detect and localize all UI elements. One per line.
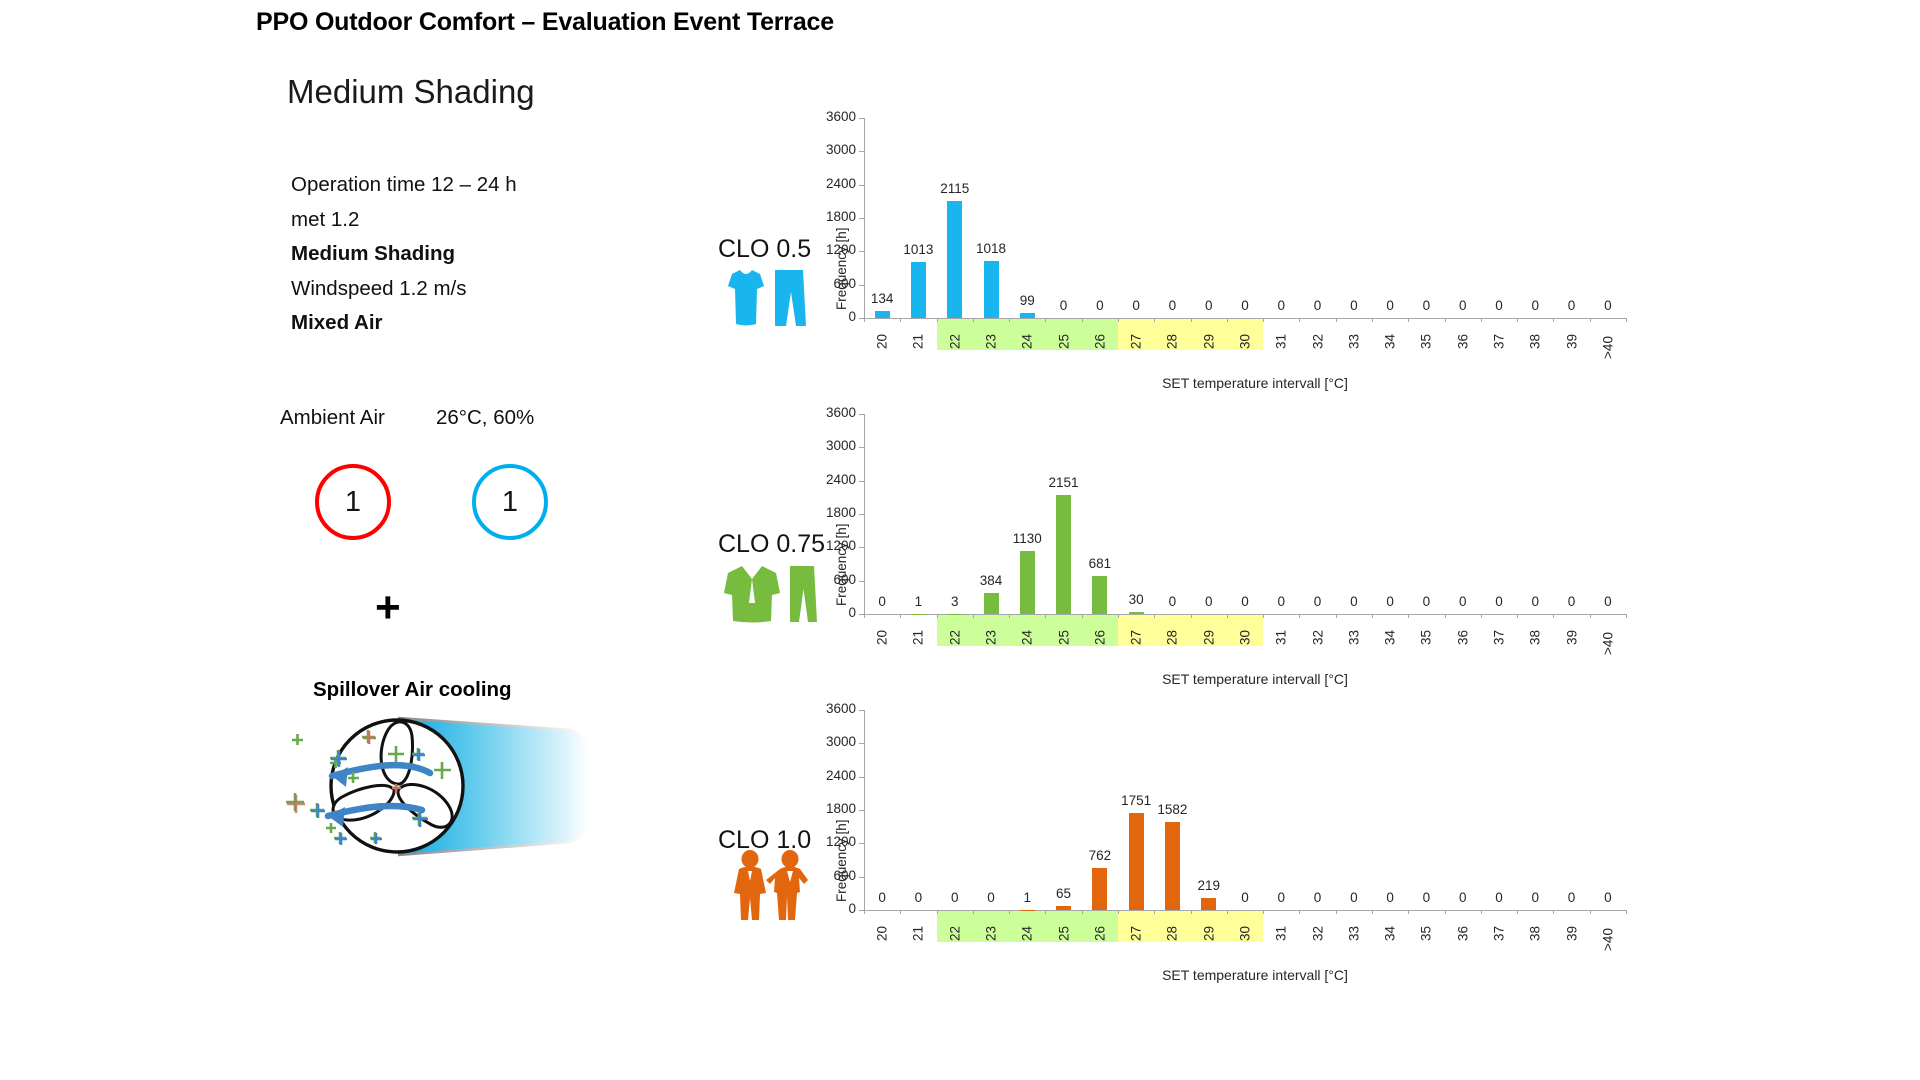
plus-icon: + xyxy=(375,586,401,630)
x-tick-label-27: 27 xyxy=(1129,918,1144,950)
y-tick-label: 2400 xyxy=(812,176,856,191)
bar-value-label: 65 xyxy=(1039,886,1089,901)
x-tick-mark xyxy=(1263,910,1264,914)
y-tick-label: 3600 xyxy=(812,109,856,124)
x-tick-mark xyxy=(1553,614,1554,618)
x-tick-label-31: 31 xyxy=(1274,622,1289,654)
x-tick-label-33: 33 xyxy=(1346,918,1361,950)
bar-28 xyxy=(1165,822,1180,910)
y-tick-label: 600 xyxy=(812,572,856,587)
bar-21 xyxy=(911,262,926,318)
bar-27 xyxy=(1129,813,1144,910)
x-tick-label-33: 33 xyxy=(1346,622,1361,654)
x-tick-label-21: 21 xyxy=(911,918,926,950)
slide-canvas: PPO Outdoor Comfort – Evaluation Event T… xyxy=(0,0,1920,1080)
x-tick-mark xyxy=(864,614,865,618)
x-tick-mark xyxy=(1118,318,1119,322)
x-tick-mark xyxy=(1626,910,1627,914)
x-tick-mark xyxy=(1191,614,1192,618)
x-tick-mark xyxy=(1299,318,1300,322)
x-tick-mark xyxy=(1481,318,1482,322)
x-tick-mark xyxy=(1481,910,1482,914)
y-tick-label: 1200 xyxy=(812,538,856,553)
y-tick-label: 2400 xyxy=(812,768,856,783)
y-tick-label: 0 xyxy=(812,605,856,620)
bar-value-label: 384 xyxy=(966,573,1016,588)
x-tick-label-32: 32 xyxy=(1310,918,1325,950)
x-tick-mark xyxy=(937,318,938,322)
x-tick-label-24: 24 xyxy=(1020,918,1035,950)
y-tick-label: 3000 xyxy=(812,734,856,749)
y-tick-label: 3000 xyxy=(812,438,856,453)
x-tick-label-25: 25 xyxy=(1056,326,1071,358)
ambient-air-label: Ambient Air xyxy=(280,406,385,430)
x-tick-mark xyxy=(1082,910,1083,914)
x-tick-mark xyxy=(900,318,901,322)
bar-value-label: 1018 xyxy=(966,241,1016,256)
y-tick-label: 600 xyxy=(812,868,856,883)
x-tick-label-29: 29 xyxy=(1201,918,1216,950)
x-tick-mark xyxy=(1009,910,1010,914)
bar-29 xyxy=(1201,898,1216,910)
x-axis-title-clo-050: SET temperature intervall [°C] xyxy=(1145,375,1365,391)
x-tick-mark xyxy=(1009,318,1010,322)
x-tick-mark xyxy=(1263,614,1264,618)
x-tick-mark xyxy=(973,910,974,914)
x-tick-label-35: 35 xyxy=(1419,326,1434,358)
x-tick-label-34: 34 xyxy=(1383,918,1398,950)
clo-label-clo-075: CLO 0.75 xyxy=(718,530,825,559)
x-tick-label-28: 28 xyxy=(1165,622,1180,654)
parameter-line: Windspeed 1.2 m/s xyxy=(291,272,517,307)
bar-value-label: 2151 xyxy=(1039,475,1089,490)
bar-value-label: 134 xyxy=(857,291,907,306)
x-tick-label-22: 22 xyxy=(947,326,962,358)
x-tick-label-24: 24 xyxy=(1020,622,1035,654)
x-tick-label->40: >40 xyxy=(1600,924,1615,956)
x-tick-label-25: 25 xyxy=(1056,918,1071,950)
x-tick-mark xyxy=(1445,910,1446,914)
x-tick-label-20: 20 xyxy=(875,326,890,358)
x-tick-label-28: 28 xyxy=(1165,918,1180,950)
x-tick-label-30: 30 xyxy=(1238,918,1253,950)
x-tick-label-39: 39 xyxy=(1564,326,1579,358)
x-tick-mark xyxy=(900,910,901,914)
clo-label-clo-050: CLO 0.5 xyxy=(718,235,811,264)
bar-22 xyxy=(947,614,962,615)
x-tick-label-37: 37 xyxy=(1492,918,1507,950)
x-tick-mark xyxy=(1154,318,1155,322)
y-tick-label: 1200 xyxy=(812,834,856,849)
x-tick-mark xyxy=(1517,614,1518,618)
ambient-air-badge: 1 xyxy=(315,464,391,540)
x-tick-mark xyxy=(1408,910,1409,914)
x-tick-mark xyxy=(1372,318,1373,322)
x-axis-title-clo-075: SET temperature intervall [°C] xyxy=(1145,671,1365,687)
x-tick-mark xyxy=(1590,910,1591,914)
y-tick-label: 1200 xyxy=(812,242,856,257)
y-axis-title-clo-050: Frequency [h] xyxy=(834,227,849,310)
y-tick-label: 600 xyxy=(812,276,856,291)
x-tick-label-38: 38 xyxy=(1528,918,1543,950)
x-tick-mark xyxy=(1517,910,1518,914)
x-tick-label-36: 36 xyxy=(1455,326,1470,358)
x-tick-label-26: 26 xyxy=(1092,326,1107,358)
x-tick-mark xyxy=(1082,318,1083,322)
parameter-line: met 1.2 xyxy=(291,203,517,238)
bar-24 xyxy=(1020,551,1035,614)
x-tick-mark xyxy=(1191,910,1192,914)
bar-26 xyxy=(1092,868,1107,910)
x-tick-mark xyxy=(1590,318,1591,322)
y-tick-label: 3000 xyxy=(812,142,856,157)
x-tick-label-26: 26 xyxy=(1092,918,1107,950)
bar-23 xyxy=(984,593,999,614)
x-tick-mark xyxy=(864,318,865,322)
x-tick-label-38: 38 xyxy=(1528,326,1543,358)
y-axis-title-clo-100: Frequency [h] xyxy=(834,819,849,902)
x-tick-label-32: 32 xyxy=(1310,622,1325,654)
x-tick-label-29: 29 xyxy=(1201,326,1216,358)
bar-24 xyxy=(1020,910,1035,911)
x-tick-mark xyxy=(864,910,865,914)
x-tick-mark xyxy=(1263,318,1264,322)
x-tick-label-35: 35 xyxy=(1419,918,1434,950)
bar-27 xyxy=(1129,612,1144,614)
x-tick-mark xyxy=(1336,910,1337,914)
x-tick-label-20: 20 xyxy=(875,622,890,654)
x-tick-mark xyxy=(1154,910,1155,914)
x-tick-label-23: 23 xyxy=(984,622,999,654)
bar-value-label: 1582 xyxy=(1147,802,1197,817)
x-tick-mark xyxy=(1372,614,1373,618)
x-tick-mark xyxy=(1009,614,1010,618)
x-tick-label-25: 25 xyxy=(1056,622,1071,654)
x-tick-label-30: 30 xyxy=(1238,326,1253,358)
parameter-line: Medium Shading xyxy=(291,237,517,272)
parameter-line: Mixed Air xyxy=(291,306,517,341)
x-tick-label-21: 21 xyxy=(911,326,926,358)
x-tick-label-20: 20 xyxy=(875,918,890,950)
spillover-fan-diagram-icon xyxy=(270,710,610,865)
x-tick-mark xyxy=(1045,614,1046,618)
x-tick-label-23: 23 xyxy=(984,326,999,358)
bar-24 xyxy=(1020,313,1035,319)
x-tick-label-36: 36 xyxy=(1455,918,1470,950)
x-tick-label-31: 31 xyxy=(1274,918,1289,950)
x-tick-label-34: 34 xyxy=(1383,622,1398,654)
x-tick-mark xyxy=(1045,318,1046,322)
y-tick-label: 3600 xyxy=(812,701,856,716)
y-tick-label: 0 xyxy=(812,901,856,916)
x-tick-mark xyxy=(1227,318,1228,322)
x-tick-mark xyxy=(1517,318,1518,322)
x-tick-label-31: 31 xyxy=(1274,326,1289,358)
x-tick-mark xyxy=(900,614,901,618)
ambient-condition-label: 26°C, 60% xyxy=(436,406,534,430)
parameter-list: Operation time 12 – 24 hmet 1.2Medium Sh… xyxy=(291,168,517,341)
y-tick-label: 1800 xyxy=(812,505,856,520)
bar-23 xyxy=(984,261,999,318)
x-tick-mark xyxy=(937,614,938,618)
x-tick-label-32: 32 xyxy=(1310,326,1325,358)
bar-value-label: 3 xyxy=(930,594,980,609)
x-tick-label-39: 39 xyxy=(1564,622,1579,654)
bar-value-label: 0 xyxy=(1583,594,1633,609)
x-tick-label-33: 33 xyxy=(1346,326,1361,358)
x-tick-label-22: 22 xyxy=(947,918,962,950)
bar-value-label: 681 xyxy=(1075,556,1125,571)
business-couple-icon xyxy=(722,850,822,927)
bar-value-label: 1013 xyxy=(893,242,943,257)
section-heading: Medium Shading xyxy=(287,73,535,111)
x-tick-mark xyxy=(1154,614,1155,618)
x-tick-mark xyxy=(1372,910,1373,914)
y-tick-label: 1800 xyxy=(812,209,856,224)
x-tick-mark xyxy=(1045,910,1046,914)
jacket-trousers-icon xyxy=(718,563,818,630)
x-tick-label-21: 21 xyxy=(911,622,926,654)
x-tick-mark xyxy=(973,614,974,618)
x-tick-label->40: >40 xyxy=(1600,628,1615,660)
x-tick-label-23: 23 xyxy=(984,918,999,950)
bar-22 xyxy=(947,201,962,319)
bar-value-label: 1130 xyxy=(1002,531,1052,546)
x-tick-mark xyxy=(937,910,938,914)
x-tick-label-35: 35 xyxy=(1419,622,1434,654)
x-tick-mark xyxy=(1118,614,1119,618)
bar-26 xyxy=(1092,576,1107,614)
x-tick-label-34: 34 xyxy=(1383,326,1398,358)
bar-25 xyxy=(1056,495,1071,615)
x-tick-label-39: 39 xyxy=(1564,918,1579,950)
value-axis xyxy=(864,118,865,318)
y-axis-title-clo-075: Frequency [h] xyxy=(834,523,849,606)
spillover-air-cooling-label: Spillover Air cooling xyxy=(313,678,512,702)
x-tick-mark xyxy=(1408,614,1409,618)
bar-25 xyxy=(1056,906,1071,910)
x-tick-mark xyxy=(1481,614,1482,618)
bar-value-label: 0 xyxy=(1583,298,1633,313)
y-tick-label: 1800 xyxy=(812,801,856,816)
x-tick-label-22: 22 xyxy=(947,622,962,654)
x-tick-mark xyxy=(1590,614,1591,618)
x-tick-mark xyxy=(1191,318,1192,322)
bar-value-label: 2115 xyxy=(930,181,980,196)
x-tick-mark xyxy=(1336,318,1337,322)
x-tick-label->40: >40 xyxy=(1600,332,1615,364)
x-tick-mark xyxy=(1626,614,1627,618)
x-tick-mark xyxy=(1082,614,1083,618)
value-axis xyxy=(864,414,865,614)
x-tick-label-27: 27 xyxy=(1129,622,1144,654)
x-tick-label-38: 38 xyxy=(1528,622,1543,654)
x-tick-label-29: 29 xyxy=(1201,622,1216,654)
page-title: PPO Outdoor Comfort – Evaluation Event T… xyxy=(256,8,834,37)
y-tick-label: 3600 xyxy=(812,405,856,420)
x-tick-label-36: 36 xyxy=(1455,622,1470,654)
value-axis xyxy=(864,710,865,910)
x-tick-mark xyxy=(1299,910,1300,914)
x-tick-label-26: 26 xyxy=(1092,622,1107,654)
x-axis-title-clo-100: SET temperature intervall [°C] xyxy=(1145,967,1365,983)
x-tick-mark xyxy=(973,318,974,322)
x-tick-label-28: 28 xyxy=(1165,326,1180,358)
x-tick-mark xyxy=(1227,614,1228,618)
x-tick-mark xyxy=(1118,910,1119,914)
condition-badge: 1 xyxy=(472,464,548,540)
x-tick-mark xyxy=(1336,614,1337,618)
bar-value-label: 762 xyxy=(1075,848,1125,863)
tshirt-trousers-icon xyxy=(718,268,818,335)
x-tick-mark xyxy=(1445,614,1446,618)
x-tick-mark xyxy=(1408,318,1409,322)
x-tick-label-24: 24 xyxy=(1020,326,1035,358)
x-tick-mark xyxy=(1553,318,1554,322)
y-tick-label: 0 xyxy=(812,309,856,324)
x-tick-mark xyxy=(1445,318,1446,322)
bar-value-label: 0 xyxy=(1583,890,1633,905)
x-tick-mark xyxy=(1227,910,1228,914)
x-tick-label-30: 30 xyxy=(1238,622,1253,654)
x-tick-mark xyxy=(1553,910,1554,914)
x-tick-label-27: 27 xyxy=(1129,326,1144,358)
bar-21 xyxy=(911,614,926,615)
x-tick-label-37: 37 xyxy=(1492,326,1507,358)
x-tick-label-37: 37 xyxy=(1492,622,1507,654)
y-tick-label: 2400 xyxy=(812,472,856,487)
x-tick-mark xyxy=(1626,318,1627,322)
parameter-line: Operation time 12 – 24 h xyxy=(291,168,517,203)
bar-20 xyxy=(875,311,890,318)
x-tick-mark xyxy=(1299,614,1300,618)
